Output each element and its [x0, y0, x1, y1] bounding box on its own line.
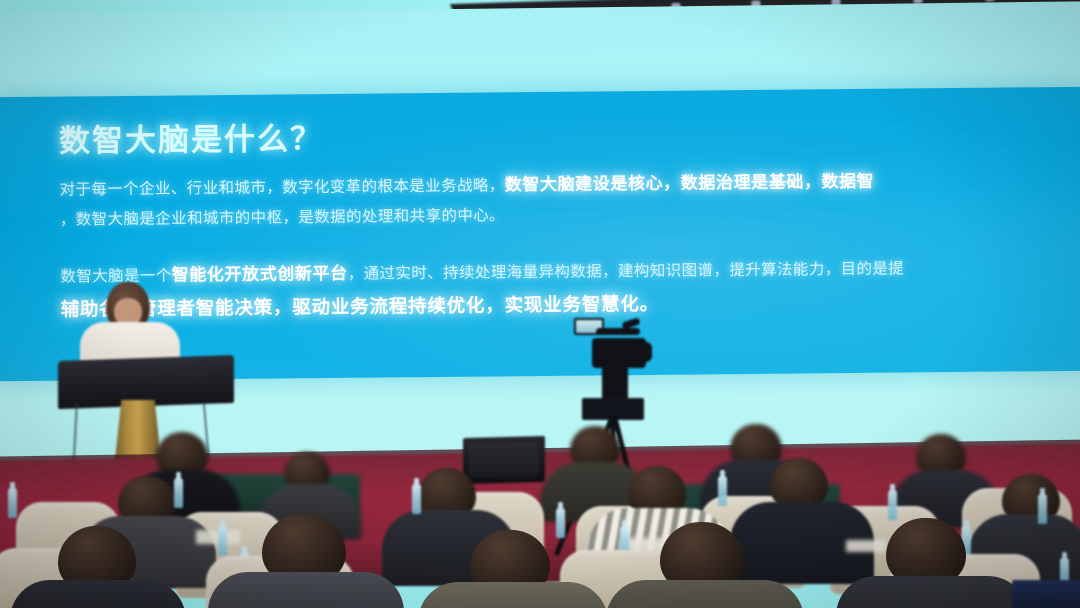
- attendee-shoulders: [10, 580, 186, 608]
- camera-lens: [636, 342, 652, 362]
- laptop-bag: [1012, 580, 1080, 608]
- water-bottle: [174, 478, 183, 508]
- water-bottle: [412, 484, 421, 514]
- attendee-shoulders: [606, 580, 804, 608]
- paragraph1-line2-plain: ，数智大脑是企业和城市的中枢，是数据的处理和共享的中心。: [60, 207, 505, 228]
- water-bottle: [888, 490, 897, 520]
- tripod-head: [602, 366, 628, 400]
- water-bottle: [8, 488, 17, 518]
- conference-photo-scene: 数智大脑是什么？ 对于每一个企业、行业和城市，数字化变革的根本是业务战略，数智大…: [0, 0, 1080, 608]
- water-bottle: [218, 526, 227, 556]
- water-bottle: [1038, 494, 1047, 524]
- paragraph1-line1-plain: 对于每一个企业、行业和城市，数字化变革的根本是业务战略，: [59, 177, 504, 198]
- camera-handle: [596, 328, 640, 335]
- attendee-shoulders: [836, 576, 1028, 608]
- attendee-shoulders: [208, 572, 404, 608]
- water-bottle: [556, 508, 565, 538]
- water-bottle: [718, 476, 727, 506]
- paper-document: [846, 540, 886, 552]
- paragraph2-line1-plain-b: ，通过实时、持续处理海量异构数据，建构知识图谱，提升算法能力，目的是提: [348, 261, 905, 283]
- audience: [0, 430, 1080, 608]
- paragraph1-line1-highlight: 数智大脑建设是核心，数据治理是基础，数据智: [505, 172, 875, 195]
- attendee-shoulders: [418, 582, 608, 608]
- slide-title: 数智大脑是什么？: [59, 115, 1080, 159]
